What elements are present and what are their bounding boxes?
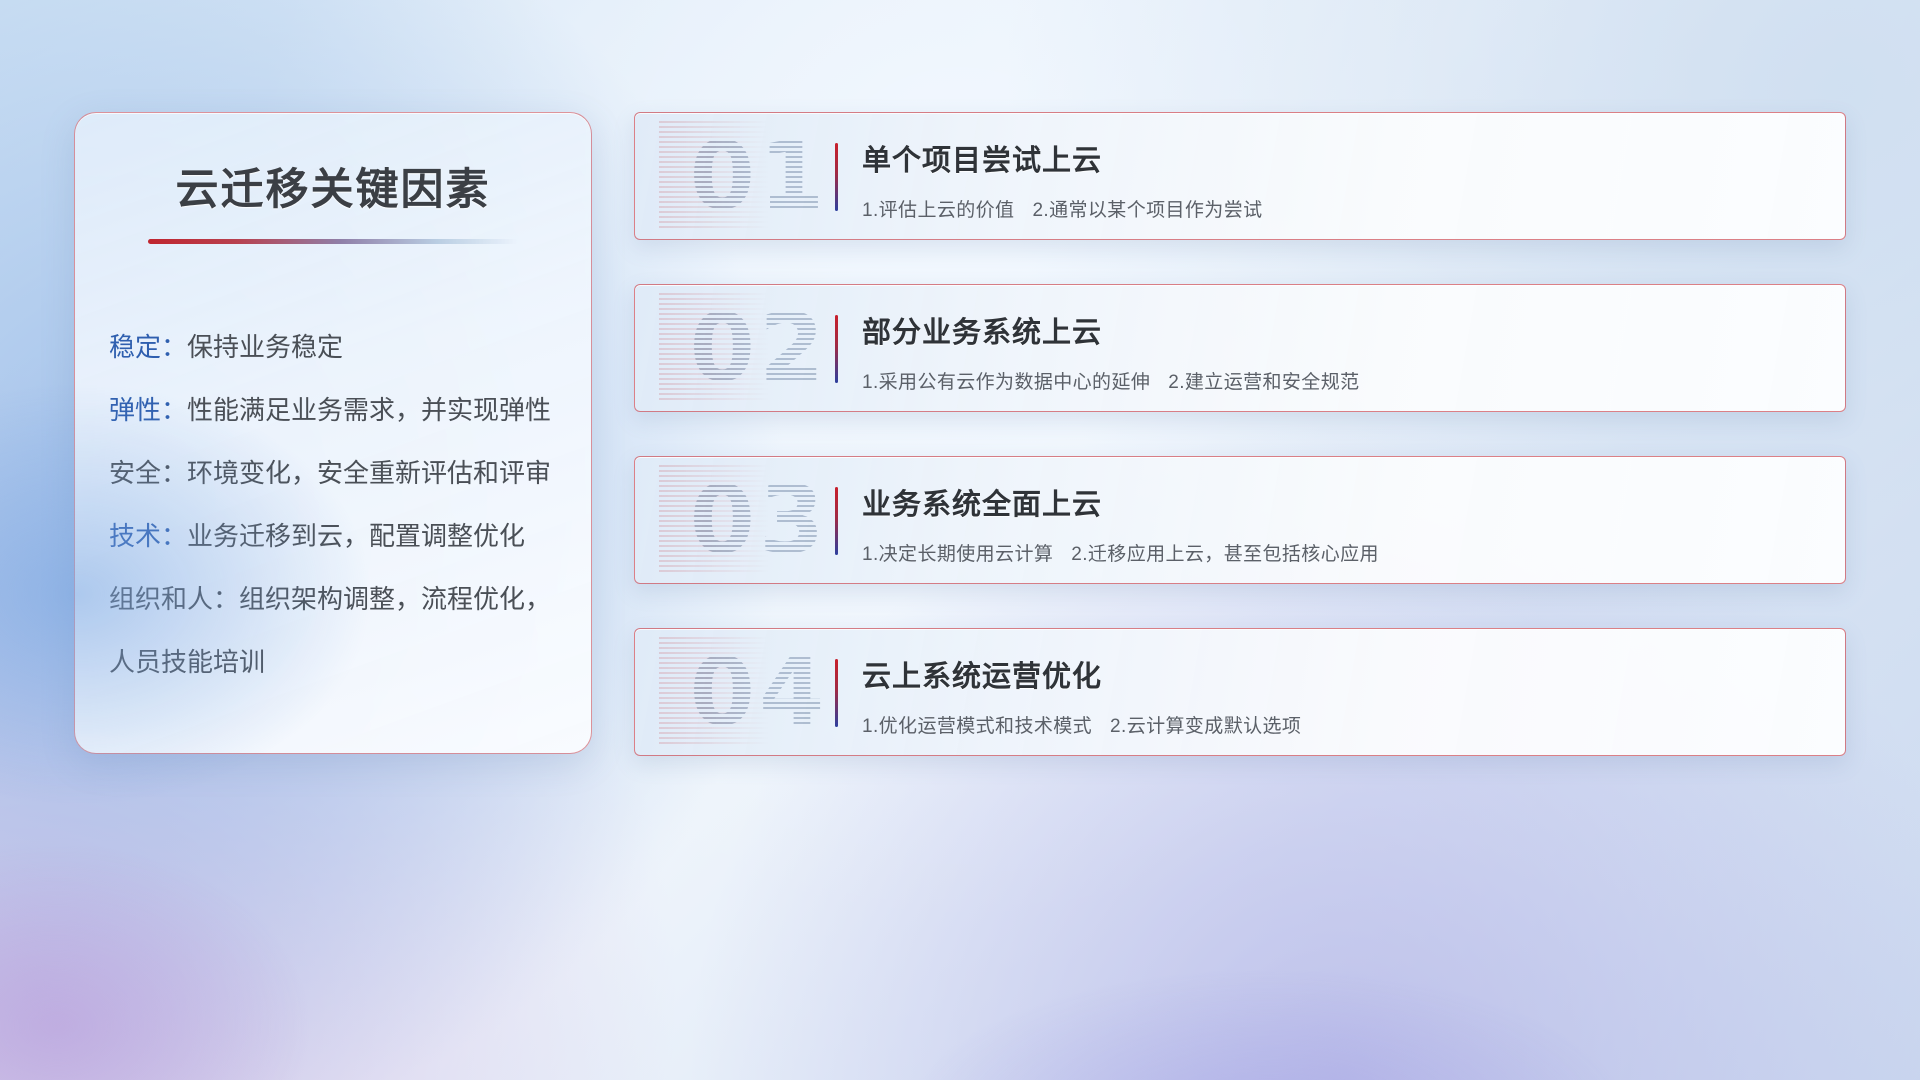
card-title: 云上系统运营优化 (862, 653, 1825, 695)
card-point-1: 1.采用公有云作为数据中心的延伸 (862, 372, 1150, 393)
card-point-2: 2.迁移应用上云，甚至包括核心应用 (1071, 544, 1379, 565)
list-item: 稳定：保持业务稳定 (109, 316, 573, 379)
list-item: 人员技能培训 (109, 631, 573, 694)
card-accent-divider (835, 315, 838, 383)
list-item: 安全：环境变化，安全重新评估和评审 (109, 442, 573, 505)
stage-card-04[interactable]: 04 云上系统运营优化 1.优化运营模式和技术模式2.云计算变成默认选项 (634, 628, 1846, 756)
card-point-2: 2.云计算变成默认选项 (1110, 716, 1301, 737)
factor-key: 组织和人： (109, 584, 239, 614)
card-points: 1.优化运营模式和技术模式2.云计算变成默认选项 (862, 711, 1825, 738)
title-underline-rule (148, 239, 518, 244)
card-points: 1.采用公有云作为数据中心的延伸2.建立运营和安全规范 (862, 367, 1825, 394)
card-title: 业务系统全面上云 (862, 481, 1825, 523)
step-number-02: 02 (659, 293, 859, 403)
stage-card-list: 01 单个项目尝试上云 1.评估上云的价值2.通常以某个项目作为尝试 02 部分… (634, 112, 1846, 756)
card-points: 1.决定长期使用云计算2.迁移应用上云，甚至包括核心应用 (862, 539, 1825, 566)
factor-key: 技术： (109, 521, 187, 551)
stage-card-03[interactable]: 03 业务系统全面上云 1.决定长期使用云计算2.迁移应用上云，甚至包括核心应用 (634, 456, 1846, 584)
factor-text: 性能满足业务需求，并实现弹性 (187, 395, 551, 425)
factor-key: 弹性： (109, 395, 187, 425)
list-item: 弹性：性能满足业务需求，并实现弹性 (109, 379, 573, 442)
card-point-2: 2.通常以某个项目作为尝试 (1032, 200, 1262, 221)
card-points: 1.评估上云的价值2.通常以某个项目作为尝试 (862, 195, 1825, 222)
page-title: 云迁移关键因素 (75, 155, 591, 217)
stage-card-02[interactable]: 02 部分业务系统上云 1.采用公有云作为数据中心的延伸2.建立运营和安全规范 (634, 284, 1846, 412)
slide-canvas: 云迁移关键因素 稳定：保持业务稳定 弹性：性能满足业务需求，并实现弹性 安全：环… (0, 0, 1920, 1080)
factor-list: 稳定：保持业务稳定 弹性：性能满足业务需求，并实现弹性 安全：环境变化，安全重新… (75, 316, 591, 694)
factor-text: 组织架构调整，流程优化， (239, 584, 551, 614)
card-body: 部分业务系统上云 1.采用公有云作为数据中心的延伸2.建立运营和安全规范 (862, 309, 1825, 394)
key-factors-panel: 云迁移关键因素 稳定：保持业务稳定 弹性：性能满足业务需求，并实现弹性 安全：环… (74, 112, 592, 754)
card-title: 部分业务系统上云 (862, 309, 1825, 351)
card-body: 业务系统全面上云 1.决定长期使用云计算2.迁移应用上云，甚至包括核心应用 (862, 481, 1825, 566)
list-item: 组织和人：组织架构调整，流程优化， (109, 568, 573, 631)
card-point-1: 1.优化运营模式和技术模式 (862, 716, 1092, 737)
card-accent-divider (835, 659, 838, 727)
card-accent-divider (835, 143, 838, 211)
card-body: 单个项目尝试上云 1.评估上云的价值2.通常以某个项目作为尝试 (862, 137, 1825, 222)
factor-text: 人员技能培训 (109, 647, 265, 677)
card-point-1: 1.评估上云的价值 (862, 200, 1014, 221)
factor-text: 业务迁移到云，配置调整优化 (187, 521, 525, 551)
stage-card-01[interactable]: 01 单个项目尝试上云 1.评估上云的价值2.通常以某个项目作为尝试 (634, 112, 1846, 240)
factor-text: 保持业务稳定 (187, 332, 343, 362)
card-point-1: 1.决定长期使用云计算 (862, 544, 1053, 565)
card-title: 单个项目尝试上云 (862, 137, 1825, 179)
card-point-2: 2.建立运营和安全规范 (1168, 372, 1359, 393)
card-body: 云上系统运营优化 1.优化运营模式和技术模式2.云计算变成默认选项 (862, 653, 1825, 738)
step-number-04: 04 (659, 637, 859, 747)
factor-text: 环境变化，安全重新评估和评审 (187, 458, 551, 488)
step-number-03: 03 (659, 465, 859, 575)
list-item: 技术：业务迁移到云，配置调整优化 (109, 505, 573, 568)
card-accent-divider (835, 487, 838, 555)
factor-key: 安全： (109, 458, 187, 488)
factor-key: 稳定： (109, 332, 187, 362)
step-number-01: 01 (659, 121, 859, 231)
